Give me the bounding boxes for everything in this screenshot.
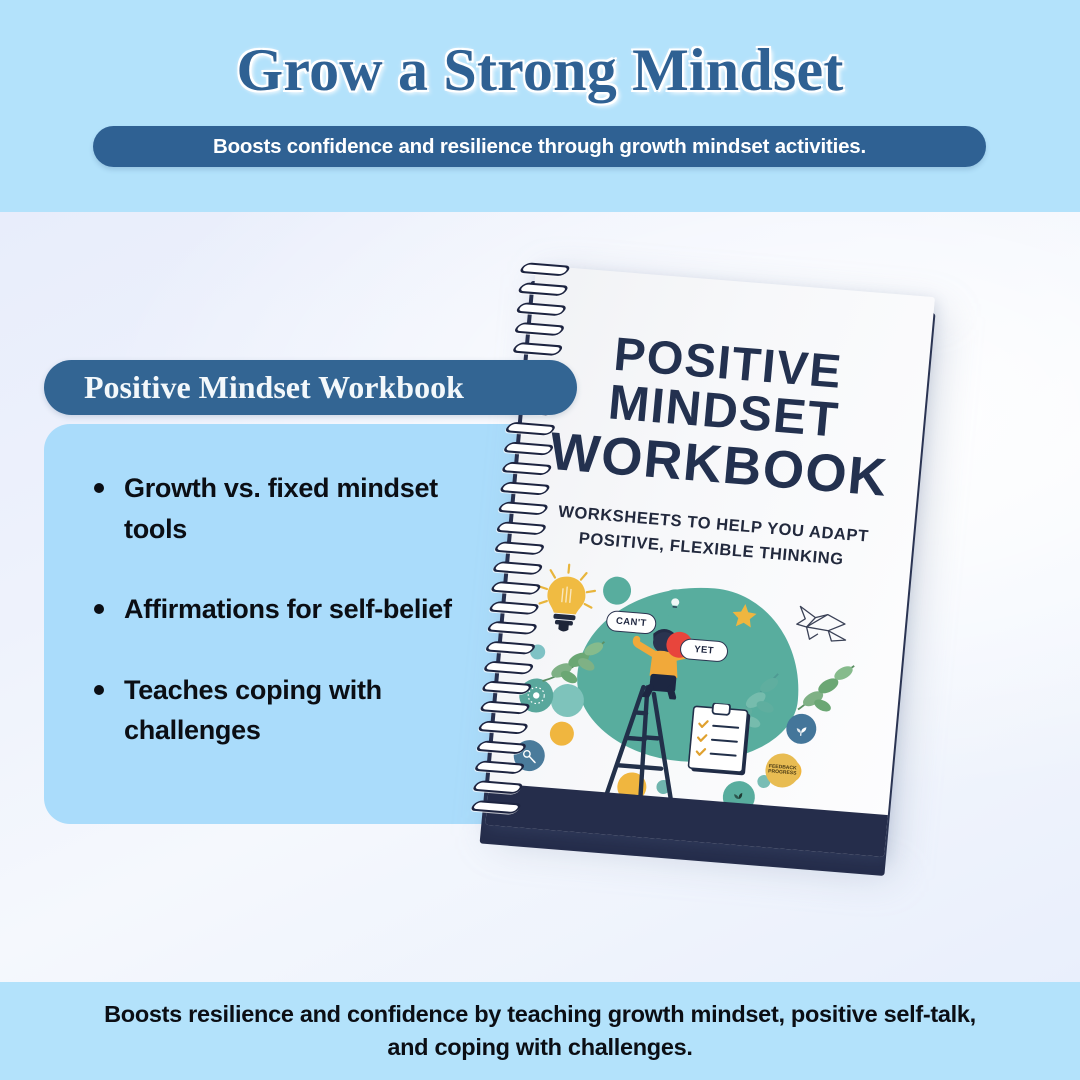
decorative-dot bbox=[602, 576, 632, 606]
feature-card-header: Positive Mindset Workbook bbox=[44, 360, 577, 415]
origami-crane-icon bbox=[790, 602, 856, 655]
book-mockup: POSITIVE MINDSET WORKBOOK WORKSHEETS TO … bbox=[470, 250, 1080, 930]
poster-canvas: Grow a Strong Mindset Boosts confidence … bbox=[0, 0, 1080, 1080]
clipboard-checklist-icon bbox=[687, 701, 756, 780]
list-item: Growth vs. fixed mindset tools bbox=[82, 468, 482, 549]
page-title: Grow a Strong Mindset bbox=[0, 36, 1080, 105]
speech-bubble-cant: CAN'T bbox=[605, 610, 657, 635]
list-item: Teaches coping with challenges bbox=[82, 670, 482, 751]
footer-band: Boosts resilience and confidence by teac… bbox=[0, 982, 1080, 1080]
book-body: POSITIVE MINDSET WORKBOOK WORKSHEETS TO … bbox=[485, 265, 935, 860]
leaf-branch-icon bbox=[791, 655, 868, 723]
list-item: Affirmations for self-belief bbox=[82, 589, 482, 630]
header-band: Grow a Strong Mindset Boosts confidence … bbox=[0, 0, 1080, 212]
leaf-branch-icon bbox=[538, 629, 613, 692]
feature-card-title: Positive Mindset Workbook bbox=[84, 369, 464, 406]
speech-bubble-yet: YET bbox=[679, 638, 729, 663]
subtitle-pill: Boosts confidence and resilience through… bbox=[93, 126, 986, 167]
subtitle-text: Boosts confidence and resilience through… bbox=[213, 135, 866, 159]
star-icon bbox=[728, 600, 761, 632]
footer-caption: Boosts resilience and confidence by teac… bbox=[90, 998, 990, 1065]
cover-title: POSITIVE MINDSET WORKBOOK bbox=[527, 324, 920, 507]
decorative-dot bbox=[549, 721, 575, 747]
